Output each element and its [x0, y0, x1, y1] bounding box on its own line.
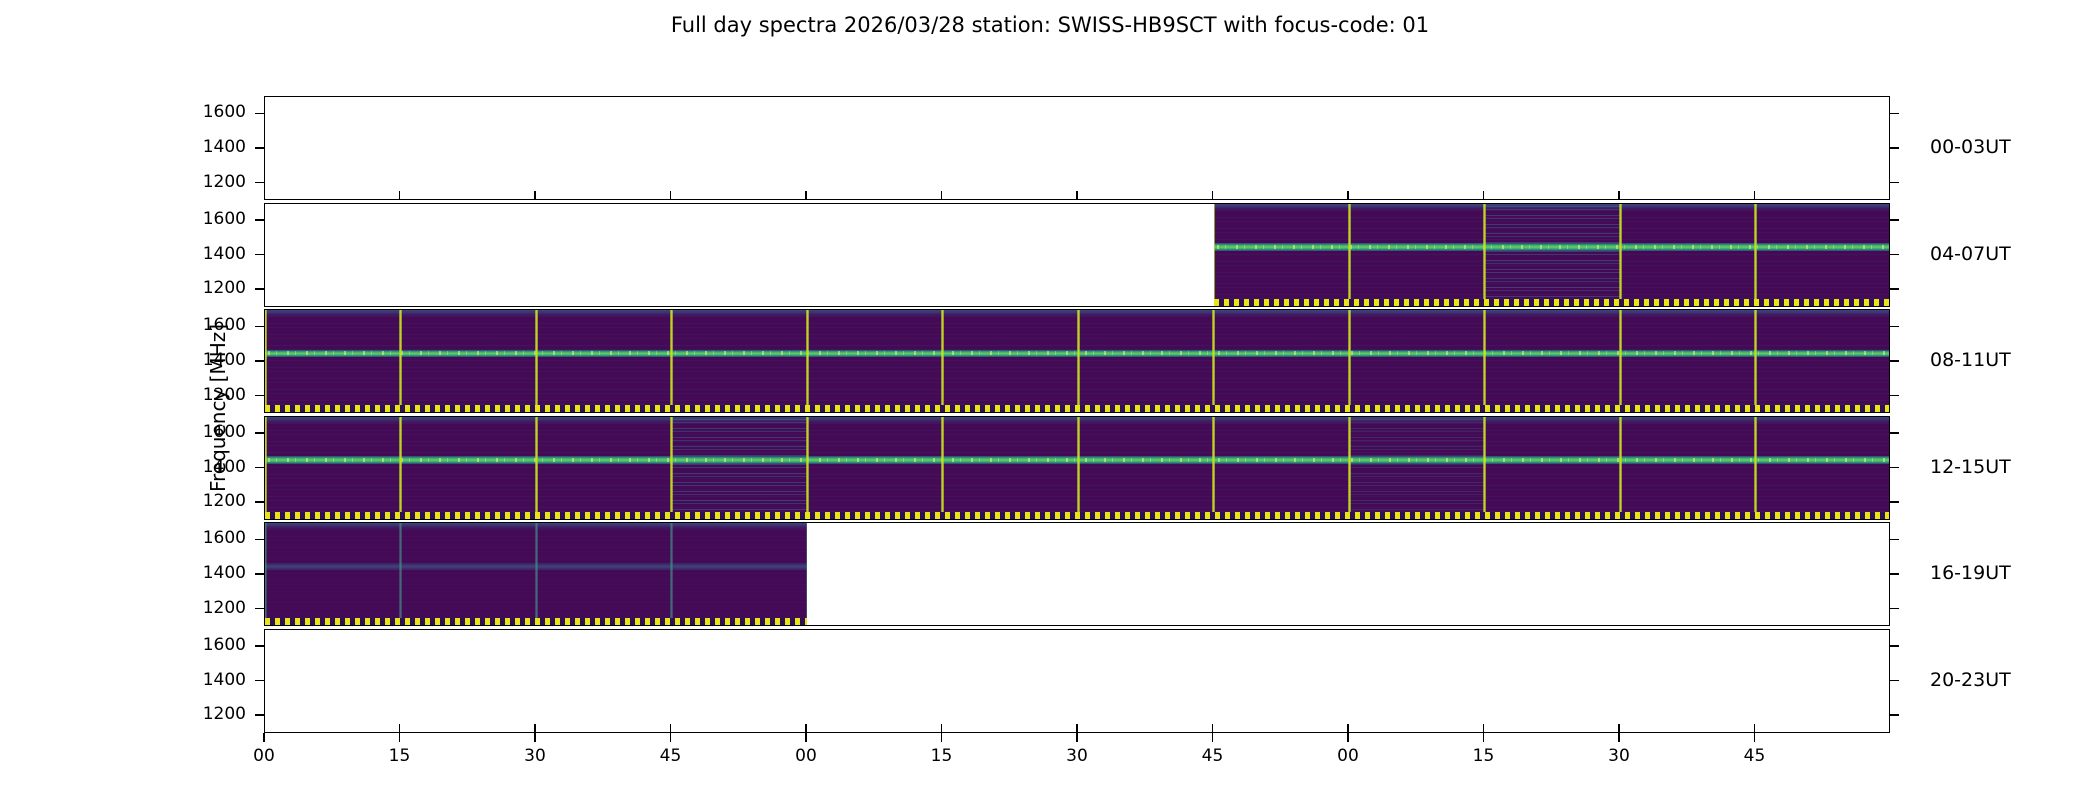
- quarter-hour-stripe: [806, 523, 808, 625]
- upper-edge-band: [265, 523, 807, 530]
- x-tick-label: 30: [1037, 746, 1117, 766]
- spectrogram-panel-00-03[interactable]: [264, 96, 1890, 200]
- quarter-hour-stripe: [670, 310, 673, 412]
- quarter-hour-stripe: [1348, 417, 1351, 519]
- y-tick-mark: [255, 501, 264, 503]
- quarter-hour-stripe: [265, 417, 267, 519]
- panel-plot-area: [265, 630, 1889, 732]
- x-tick-mark: [1483, 733, 1485, 742]
- elevated-noise-block: [672, 417, 808, 519]
- quarter-hour-stripe: [1212, 310, 1215, 412]
- quarter-hour-stripe: [941, 310, 944, 412]
- quarter-hour-stripe: [1483, 204, 1486, 306]
- y-tick-label: 1200: [154, 278, 246, 298]
- x-tick-mark: [1076, 724, 1078, 733]
- quarter-hour-stripe: [1619, 310, 1622, 412]
- spectrogram-figure: Full day spectra 2026/03/28 station: SWI…: [0, 0, 2100, 800]
- y-tick-label: 1600: [154, 635, 246, 655]
- row-label-12-15: 12-15UT: [1930, 456, 2011, 478]
- x-tick-mark: [1754, 191, 1756, 200]
- quarter-hour-stripe: [265, 310, 267, 412]
- y-tick-label: 1200: [154, 491, 246, 511]
- quarter-hour-stripe: [535, 310, 538, 412]
- panel-plot-area: [265, 417, 1889, 519]
- emission-band-1450mhz: [1214, 243, 1890, 251]
- x-tick-mark: [1754, 724, 1756, 733]
- y-tick-label: 1600: [154, 102, 246, 122]
- y-tick-mark: [255, 182, 264, 184]
- lower-edge-dotted-row: [265, 618, 807, 625]
- y-tick-label: 1600: [154, 422, 246, 442]
- x-tick-mark: [399, 733, 401, 742]
- x-tick-label: 15: [902, 746, 982, 766]
- quarter-hour-stripe: [1754, 310, 1757, 412]
- y-tick-mark: [1890, 113, 1899, 115]
- row-label-16-19: 16-19UT: [1930, 562, 2011, 584]
- x-tick-mark: [1347, 724, 1349, 733]
- emission-band-1450mhz: [265, 350, 1889, 358]
- quarter-hour-stripe: [670, 523, 673, 625]
- spectra-data-block: [265, 523, 807, 625]
- x-tick-mark: [941, 724, 943, 733]
- lower-edge-dotted-row: [1214, 299, 1890, 306]
- y-tick-mark: [255, 254, 264, 256]
- row-label-08-11: 08-11UT: [1930, 349, 2011, 371]
- x-tick-label: 15: [360, 746, 440, 766]
- background-noise-texture: [265, 523, 807, 625]
- x-tick-label: 45: [1715, 746, 1795, 766]
- spectrogram-panel-08-11[interactable]: [264, 309, 1890, 413]
- x-tick-mark: [805, 733, 807, 742]
- x-tick-mark: [805, 191, 807, 200]
- quarter-hour-stripe: [1077, 417, 1080, 519]
- upper-edge-band: [1214, 204, 1890, 211]
- y-tick-mark: [1890, 182, 1899, 184]
- panel-plot-area: [265, 97, 1889, 199]
- y-tick-label: 1200: [154, 598, 246, 618]
- y-tick-label: 1600: [154, 209, 246, 229]
- y-tick-mark: [255, 539, 264, 541]
- x-tick-mark: [1618, 191, 1620, 200]
- spectra-data-block: [265, 310, 1889, 412]
- x-tick-mark: [1618, 724, 1620, 733]
- y-tick-label: 1400: [154, 350, 246, 370]
- y-tick-mark: [1890, 360, 1899, 362]
- quarter-hour-stripe: [399, 523, 402, 625]
- row-label-04-07: 04-07UT: [1930, 243, 2011, 265]
- quarter-hour-stripe: [806, 310, 809, 412]
- spectra-data-block: [1214, 204, 1890, 306]
- upper-edge-band: [265, 310, 1889, 317]
- x-tick-mark: [1212, 191, 1214, 200]
- x-tick-label: 00: [224, 746, 304, 766]
- y-tick-label: 1400: [154, 457, 246, 477]
- y-tick-label: 1400: [154, 670, 246, 690]
- x-tick-mark: [1754, 733, 1756, 742]
- x-tick-mark: [670, 191, 672, 200]
- quarter-hour-stripe: [806, 417, 809, 519]
- band-speckle: [265, 351, 1889, 355]
- y-tick-mark: [255, 645, 264, 647]
- x-tick-mark: [1212, 733, 1214, 742]
- quarter-hour-stripe: [1754, 204, 1757, 306]
- y-tick-mark: [255, 395, 264, 397]
- band-speckle: [265, 458, 1889, 462]
- y-tick-mark: [1890, 288, 1899, 290]
- x-tick-mark: [670, 724, 672, 733]
- x-tick-label: 00: [1308, 746, 1388, 766]
- x-tick-mark: [805, 724, 807, 733]
- lower-edge-dotted-row: [265, 512, 1889, 519]
- y-tick-mark: [1890, 326, 1899, 328]
- quarter-hour-stripe: [1348, 310, 1351, 412]
- y-tick-mark: [1890, 501, 1899, 503]
- x-tick-mark: [1483, 724, 1485, 733]
- x-tick-mark: [941, 191, 943, 200]
- quarter-hour-stripe: [1212, 417, 1215, 519]
- y-tick-mark: [1890, 395, 1899, 397]
- quarter-hour-stripe: [265, 523, 267, 625]
- panel-plot-area: [265, 310, 1889, 412]
- x-tick-mark: [534, 191, 536, 200]
- y-tick-mark: [1890, 645, 1899, 647]
- x-tick-label: 30: [495, 746, 575, 766]
- x-tick-mark: [263, 733, 265, 742]
- x-tick-mark: [1076, 733, 1078, 742]
- spectrogram-panel-12-15[interactable]: [264, 416, 1890, 520]
- quarter-hour-stripe: [941, 417, 944, 519]
- y-tick-mark: [1890, 714, 1899, 716]
- background-noise-texture: [1214, 204, 1890, 306]
- quarter-hour-stripe: [1754, 417, 1757, 519]
- background-noise-texture: [265, 417, 1889, 519]
- y-tick-mark: [255, 288, 264, 290]
- quarter-hour-stripe: [1077, 310, 1080, 412]
- x-tick-label: 45: [1173, 746, 1253, 766]
- quarter-hour-stripe: [1483, 417, 1486, 519]
- y-tick-label: 1200: [154, 385, 246, 405]
- row-label-20-23: 20-23UT: [1930, 669, 2011, 691]
- y-tick-mark: [1890, 254, 1899, 256]
- x-tick-mark: [1347, 191, 1349, 200]
- x-tick-mark: [670, 733, 672, 742]
- x-tick-label: 15: [1444, 746, 1524, 766]
- y-tick-label: 1600: [154, 528, 246, 548]
- y-tick-mark: [255, 680, 264, 682]
- x-tick-mark: [399, 724, 401, 733]
- x-tick-mark: [534, 724, 536, 733]
- quarter-hour-stripe: [535, 417, 538, 519]
- spectra-data-block: [265, 417, 1889, 519]
- x-tick-mark: [1618, 733, 1620, 742]
- y-tick-mark: [1890, 432, 1899, 434]
- spectrogram-panel-20-23[interactable]: [264, 629, 1890, 733]
- figure-title: Full day spectra 2026/03/28 station: SWI…: [0, 13, 2100, 37]
- emission-band-1450mhz: [265, 563, 807, 571]
- quarter-hour-stripe: [670, 417, 673, 519]
- x-tick-mark: [399, 191, 401, 200]
- y-tick-mark: [1890, 467, 1899, 469]
- y-tick-mark: [255, 219, 264, 221]
- elevated-noise-block: [1349, 417, 1485, 519]
- quarter-hour-stripe: [535, 523, 538, 625]
- quarter-hour-stripe: [399, 310, 402, 412]
- y-tick-mark: [1890, 219, 1899, 221]
- lower-edge-dotted-row: [265, 405, 1889, 412]
- upper-edge-band: [265, 417, 1889, 424]
- spectrogram-panel-16-19[interactable]: [264, 522, 1890, 626]
- y-tick-mark: [255, 326, 264, 328]
- y-tick-mark: [255, 113, 264, 115]
- quarter-hour-stripe: [1619, 204, 1622, 306]
- y-tick-label: 1400: [154, 244, 246, 264]
- y-tick-mark: [255, 573, 264, 575]
- y-tick-mark: [255, 467, 264, 469]
- elevated-noise-block: [1485, 204, 1621, 306]
- y-tick-mark: [1890, 608, 1899, 610]
- y-tick-label: 1600: [154, 315, 246, 335]
- quarter-hour-stripe: [399, 417, 402, 519]
- quarter-hour-stripe: [1348, 204, 1351, 306]
- quarter-hour-stripe: [1214, 204, 1216, 306]
- x-tick-label: 45: [631, 746, 711, 766]
- y-tick-label: 1400: [154, 137, 246, 157]
- x-tick-mark: [941, 733, 943, 742]
- spectrogram-panel-04-07[interactable]: [264, 203, 1890, 307]
- y-tick-label: 1400: [154, 563, 246, 583]
- y-tick-mark: [1890, 147, 1899, 149]
- quarter-hour-stripe: [1483, 310, 1486, 412]
- y-tick-mark: [1890, 680, 1899, 682]
- background-noise-texture: [265, 310, 1889, 412]
- quarter-hour-stripe: [1619, 417, 1622, 519]
- y-tick-label: 1200: [154, 172, 246, 192]
- x-tick-mark: [1347, 733, 1349, 742]
- x-tick-mark: [1212, 724, 1214, 733]
- row-label-00-03: 00-03UT: [1930, 136, 2011, 158]
- y-tick-label: 1200: [154, 704, 246, 724]
- y-tick-mark: [1890, 573, 1899, 575]
- y-tick-mark: [1890, 539, 1899, 541]
- y-tick-mark: [255, 147, 264, 149]
- y-tick-mark: [255, 608, 264, 610]
- y-tick-mark: [255, 432, 264, 434]
- x-tick-mark: [1076, 191, 1078, 200]
- band-speckle: [1214, 245, 1890, 249]
- x-tick-mark: [534, 733, 536, 742]
- panel-plot-area: [265, 523, 1889, 625]
- x-tick-mark: [1483, 191, 1485, 200]
- x-tick-label: 00: [766, 746, 846, 766]
- panel-plot-area: [265, 204, 1889, 306]
- emission-band-1450mhz: [265, 456, 1889, 464]
- y-tick-mark: [255, 714, 264, 716]
- y-tick-mark: [255, 360, 264, 362]
- x-tick-label: 30: [1579, 746, 1659, 766]
